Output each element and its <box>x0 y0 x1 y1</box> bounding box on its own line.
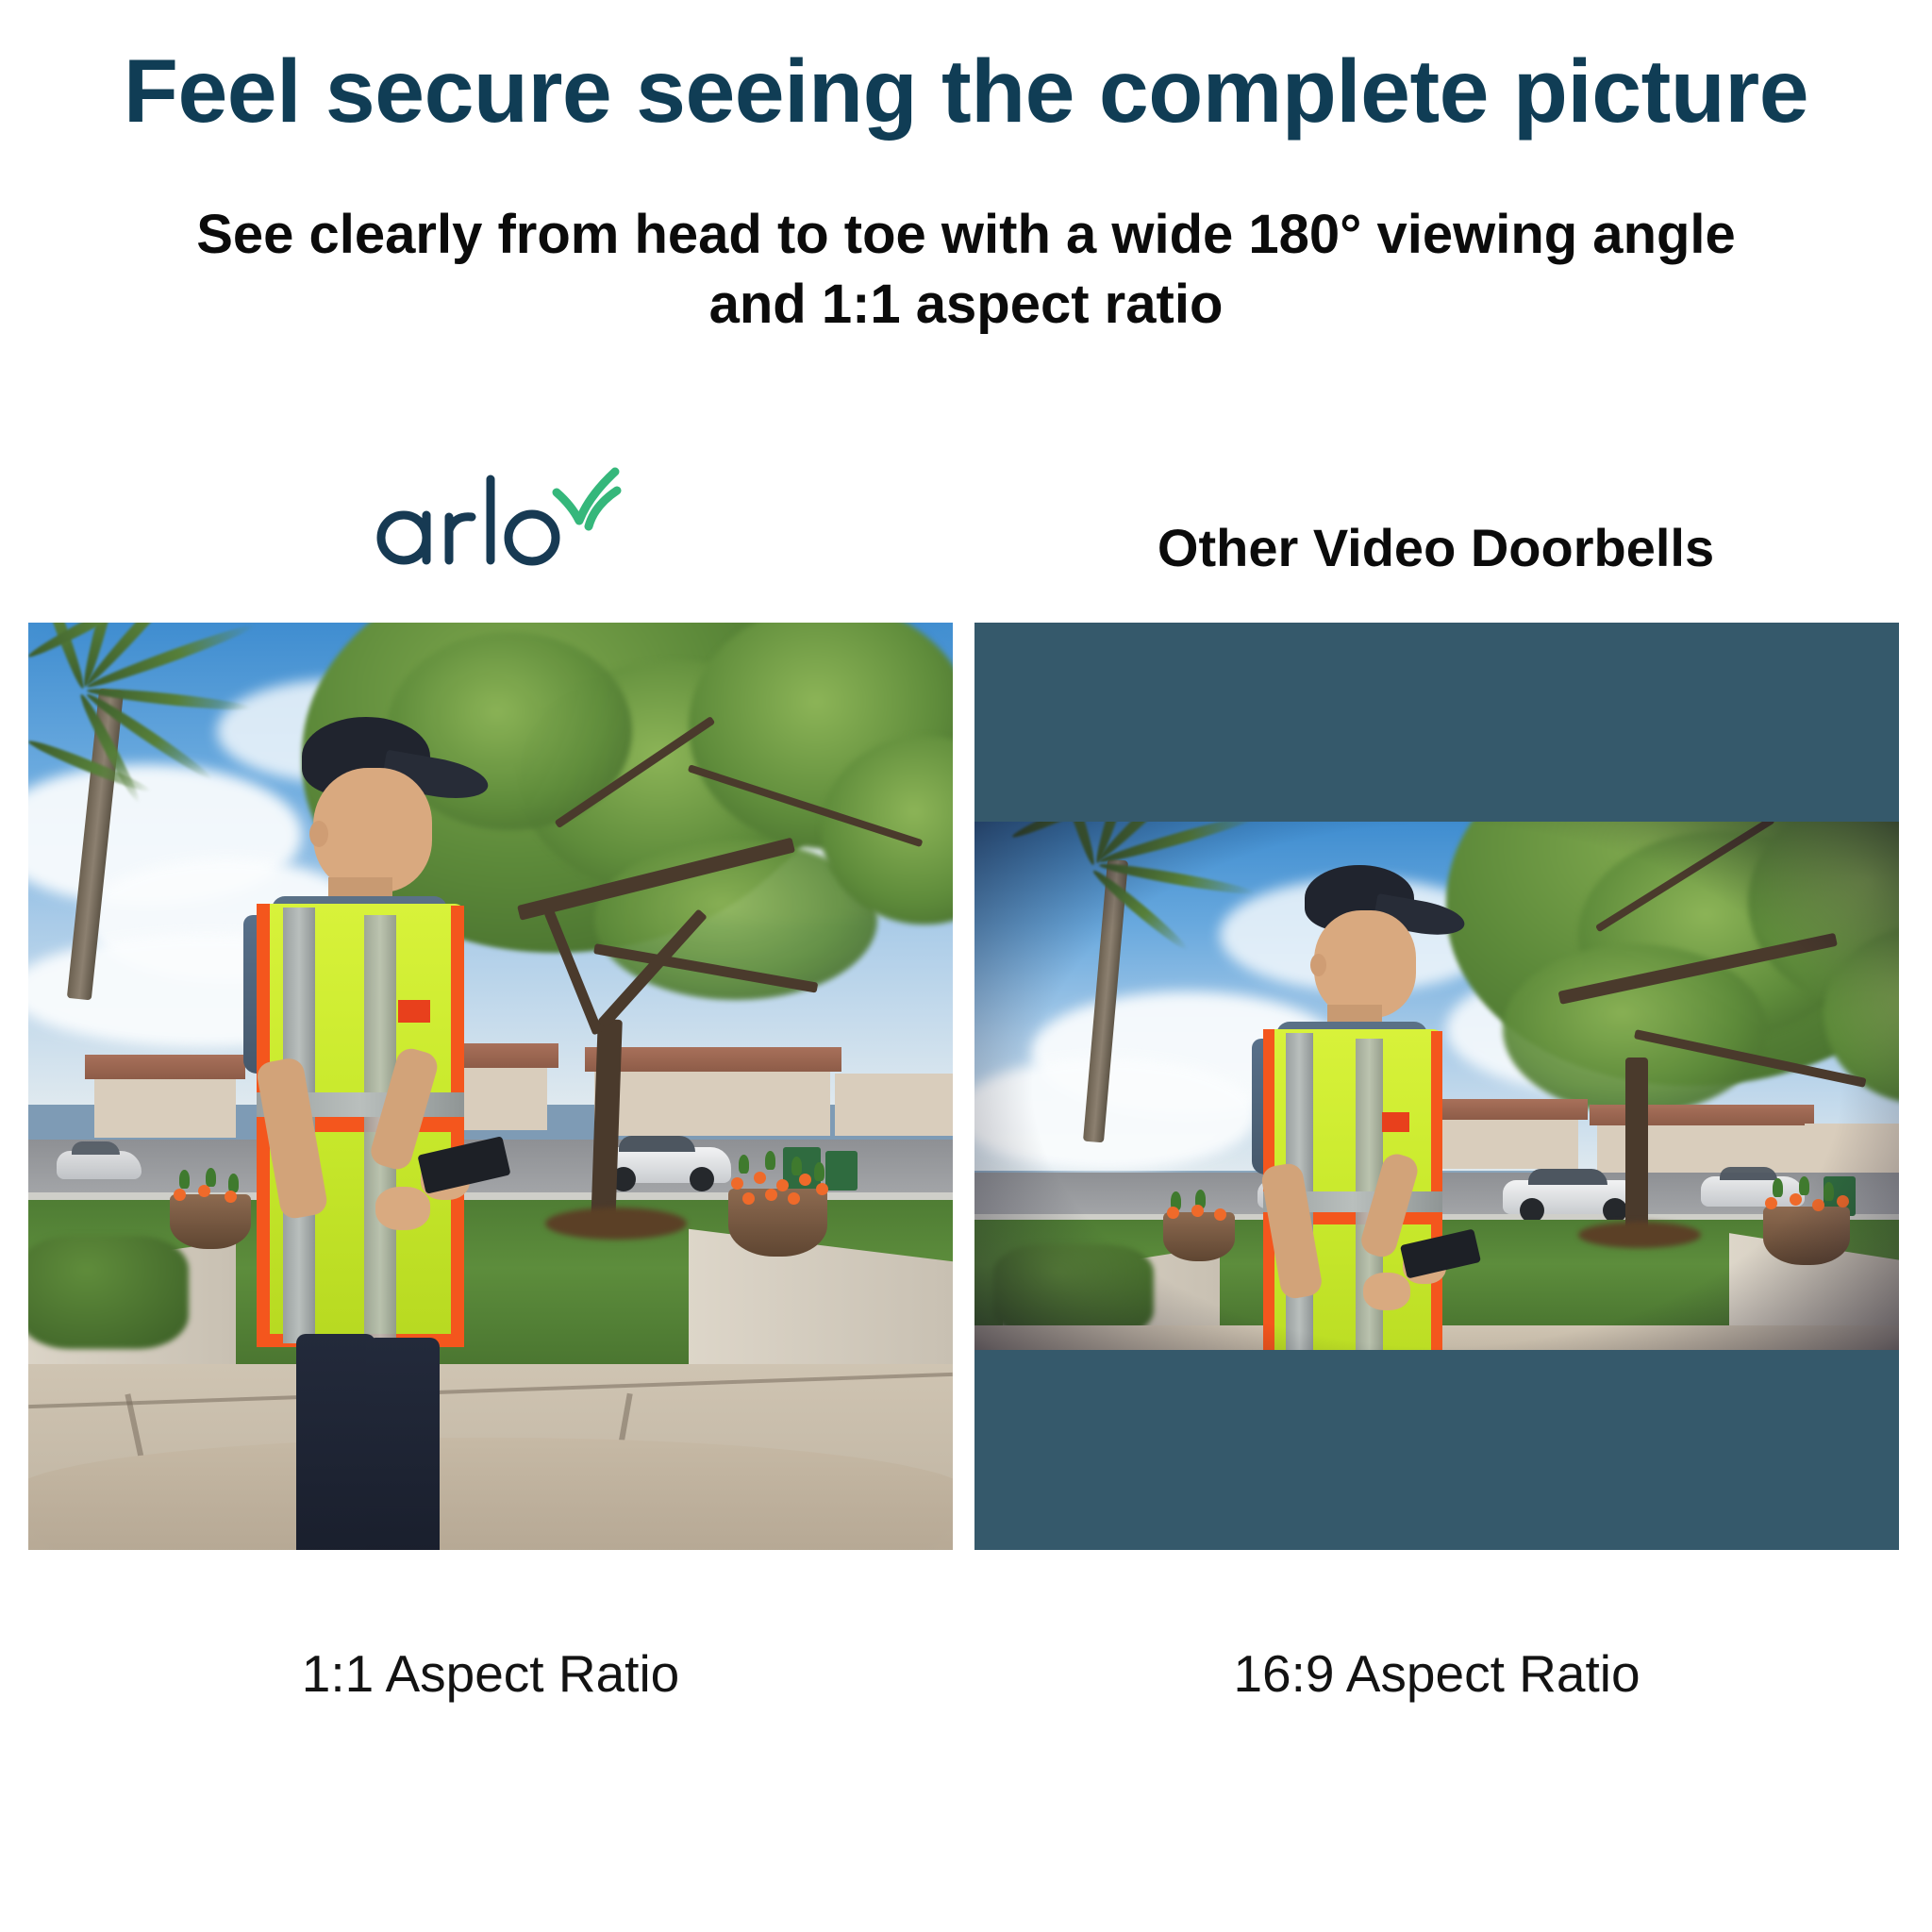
letterbox-bar-bottom <box>974 1350 1899 1550</box>
other-video-panel <box>974 623 1899 1550</box>
letterbox-bar-top <box>974 623 1899 822</box>
caption-right: 16:9 Aspect Ratio <box>974 1643 1899 1704</box>
other-scene <box>974 822 1899 1350</box>
delivery-person <box>198 700 651 1540</box>
arlo-video-panel <box>28 623 953 1550</box>
arlo-bird-icon <box>557 472 617 526</box>
subtitle-line-1: See clearly from head to toe with a wide… <box>196 204 1736 265</box>
page-title: Feel secure seeing the complete picture <box>0 43 1932 141</box>
other-doorbells-label: Other Video Doorbells <box>972 517 1900 578</box>
caption-left: 1:1 Aspect Ratio <box>28 1643 953 1704</box>
page-subtitle: See clearly from head to toe with a wide… <box>0 200 1932 340</box>
subtitle-line-2: and 1:1 aspect ratio <box>0 270 1932 340</box>
arlo-scene <box>28 623 953 1550</box>
arlo-logo <box>370 464 626 568</box>
comparison-infographic: Feel secure seeing the complete picture … <box>0 0 1932 1932</box>
